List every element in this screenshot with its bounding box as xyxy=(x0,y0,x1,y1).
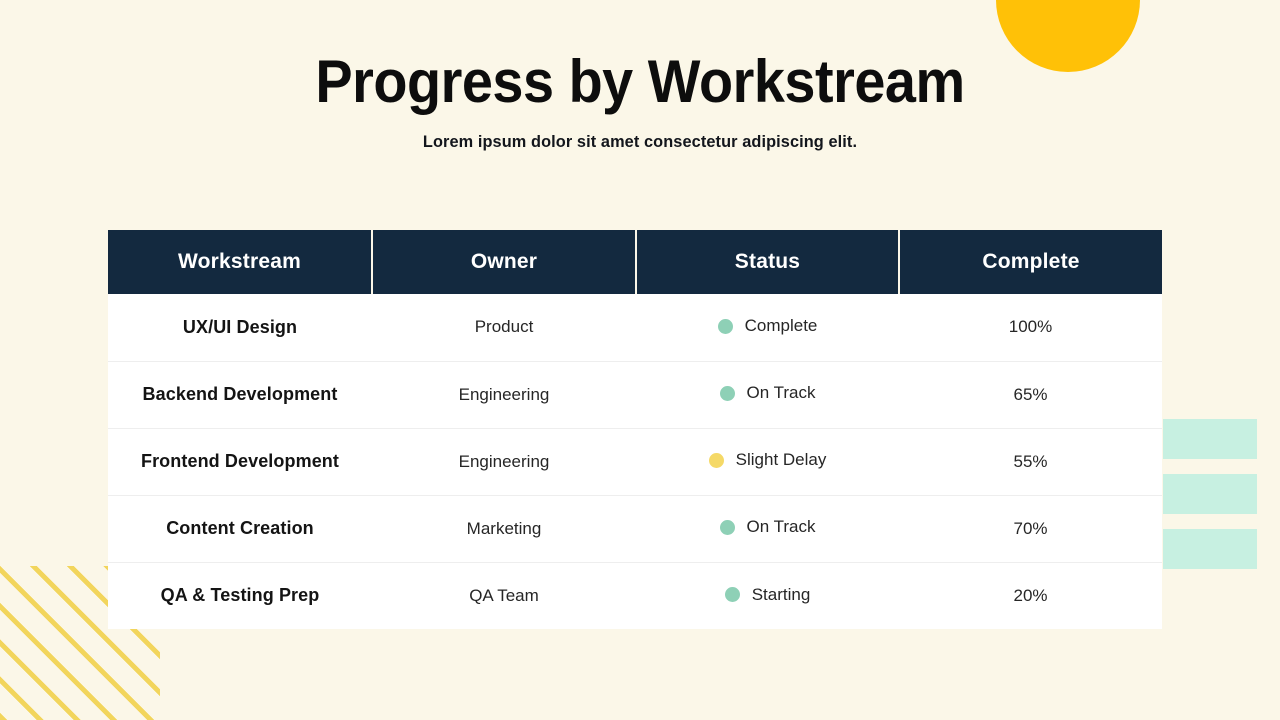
cell-workstream: UX/UI Design xyxy=(108,294,372,361)
table-header-row: Workstream Owner Status Complete xyxy=(108,230,1162,294)
status-label: Complete xyxy=(745,316,818,336)
status-dot-icon xyxy=(720,520,735,535)
cell-workstream: QA & Testing Prep xyxy=(108,562,372,629)
cell-status: On Track xyxy=(636,361,899,428)
cell-workstream: Frontend Development xyxy=(108,428,372,495)
status-label: Starting xyxy=(752,585,811,605)
cell-status: Starting xyxy=(636,562,899,629)
status-dot-icon xyxy=(709,453,724,468)
mint-rectangle-shape-3 xyxy=(1163,529,1257,569)
cell-owner: Marketing xyxy=(372,495,636,562)
column-header-owner[interactable]: Owner xyxy=(372,230,636,294)
status-badge: Starting xyxy=(725,585,811,605)
table-row[interactable]: Content CreationMarketingOn Track70% xyxy=(108,495,1162,562)
page-title: Progress by Workstream xyxy=(45,0,1235,115)
status-label: On Track xyxy=(747,517,816,537)
cell-owner: Engineering xyxy=(372,428,636,495)
table-row[interactable]: UX/UI DesignProductComplete100% xyxy=(108,294,1162,361)
cell-complete: 20% xyxy=(899,562,1162,629)
cell-status: On Track xyxy=(636,495,899,562)
slide-heading-block: Progress by Workstream Lorem ipsum dolor… xyxy=(0,0,1280,152)
status-badge: On Track xyxy=(720,517,816,537)
cell-status: Complete xyxy=(636,294,899,361)
table-row[interactable]: Frontend DevelopmentEngineeringSlight De… xyxy=(108,428,1162,495)
column-header-workstream[interactable]: Workstream xyxy=(108,230,372,294)
mint-rectangle-shape-2 xyxy=(1163,474,1257,514)
column-header-complete[interactable]: Complete xyxy=(899,230,1162,294)
status-badge: Complete xyxy=(718,316,818,336)
status-badge: On Track xyxy=(720,383,816,403)
status-dot-icon xyxy=(725,587,740,602)
status-label: On Track xyxy=(747,383,816,403)
cell-complete: 70% xyxy=(899,495,1162,562)
cell-complete: 55% xyxy=(899,428,1162,495)
cell-owner: Engineering xyxy=(372,361,636,428)
cell-owner: QA Team xyxy=(372,562,636,629)
cell-complete: 100% xyxy=(899,294,1162,361)
cell-complete: 65% xyxy=(899,361,1162,428)
cell-workstream: Content Creation xyxy=(108,495,372,562)
column-header-status[interactable]: Status xyxy=(636,230,899,294)
workstream-progress-table: Workstream Owner Status Complete UX/UI D… xyxy=(108,230,1162,629)
status-dot-icon xyxy=(718,319,733,334)
cell-owner: Product xyxy=(372,294,636,361)
table-row[interactable]: Backend DevelopmentEngineeringOn Track65… xyxy=(108,361,1162,428)
status-badge: Slight Delay xyxy=(709,450,827,470)
table-header: Workstream Owner Status Complete xyxy=(108,230,1162,294)
status-dot-icon xyxy=(720,386,735,401)
cell-workstream: Backend Development xyxy=(108,361,372,428)
mint-rectangle-shape-1 xyxy=(1163,419,1257,459)
cell-status: Slight Delay xyxy=(636,428,899,495)
status-label: Slight Delay xyxy=(736,450,827,470)
table-row[interactable]: QA & Testing PrepQA TeamStarting20% xyxy=(108,562,1162,629)
table-body: UX/UI DesignProductComplete100%Backend D… xyxy=(108,294,1162,629)
page-subtitle: Lorem ipsum dolor sit amet consectetur a… xyxy=(26,115,1255,152)
